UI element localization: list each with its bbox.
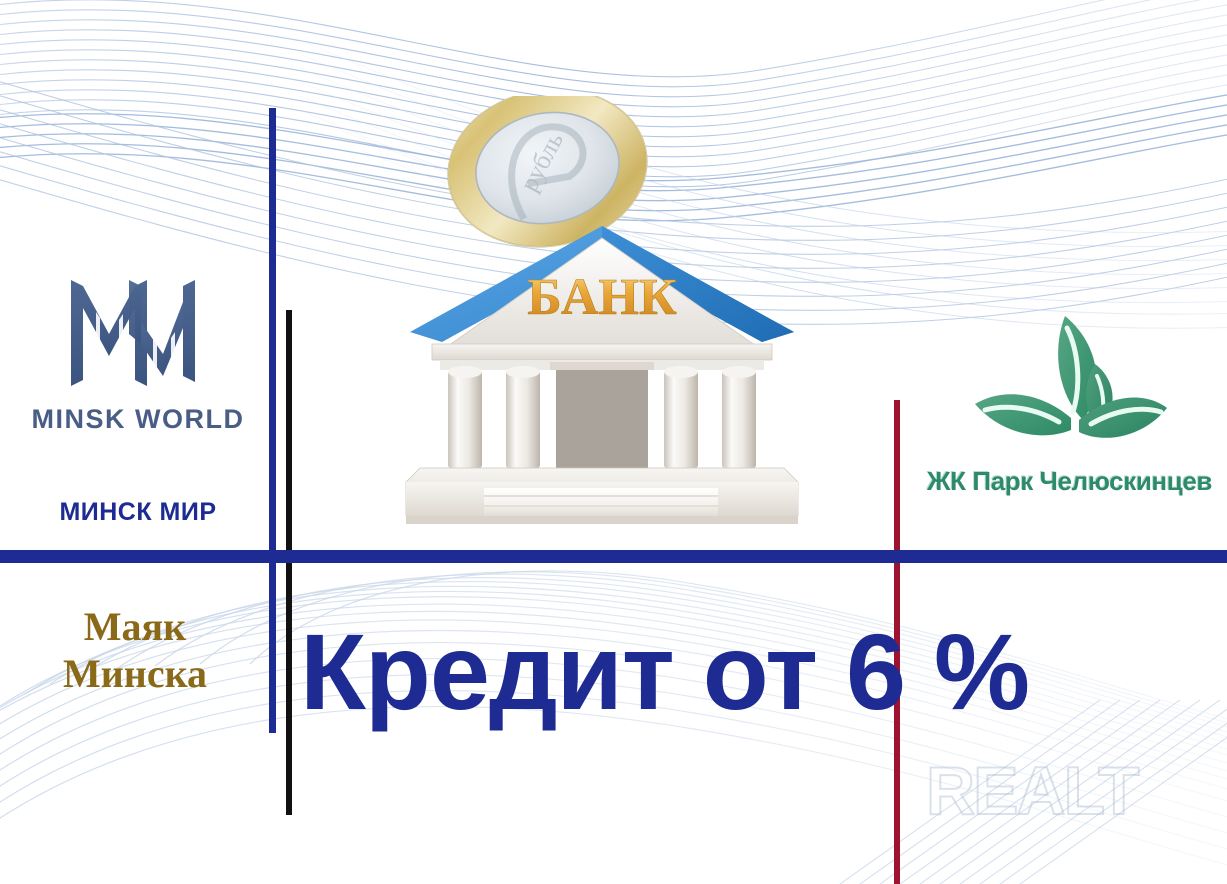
mayak-minska-caption: Маяк Минска [10,603,260,697]
ruble-coin-icon: рубль [425,96,671,264]
minsk-world-wordmark: MINSK WORLD [18,404,258,435]
minsk-mir-caption: МИНСК МИР [18,498,258,527]
park-chelyuskintsev-caption: ЖК Парк Челюскинцев [912,466,1227,497]
minsk-world-mw-monogram-icon [63,272,213,390]
green-leaves-book-icon [955,308,1185,460]
minsk-world-logo-block: MINSK WORLD [18,272,258,435]
credit-promo-banner: MINSK WORLD МИНСК МИР Маяк Минска [0,0,1227,884]
vertical-blue-divider [269,108,276,733]
park-chelyuskintsev-logo-block: ЖК Парк Челюскинцев [912,308,1227,497]
bank-building-illustration: рубль БАНК [398,96,806,541]
bank-pediment-text: БАНК [527,269,677,326]
horizontal-blue-divider [0,550,1227,563]
bank-steps [484,488,718,520]
bank-doorway [556,368,648,472]
headline-credit-rate: Кредит от 6 % [300,618,920,726]
realt-watermark: REALT [926,752,1138,830]
